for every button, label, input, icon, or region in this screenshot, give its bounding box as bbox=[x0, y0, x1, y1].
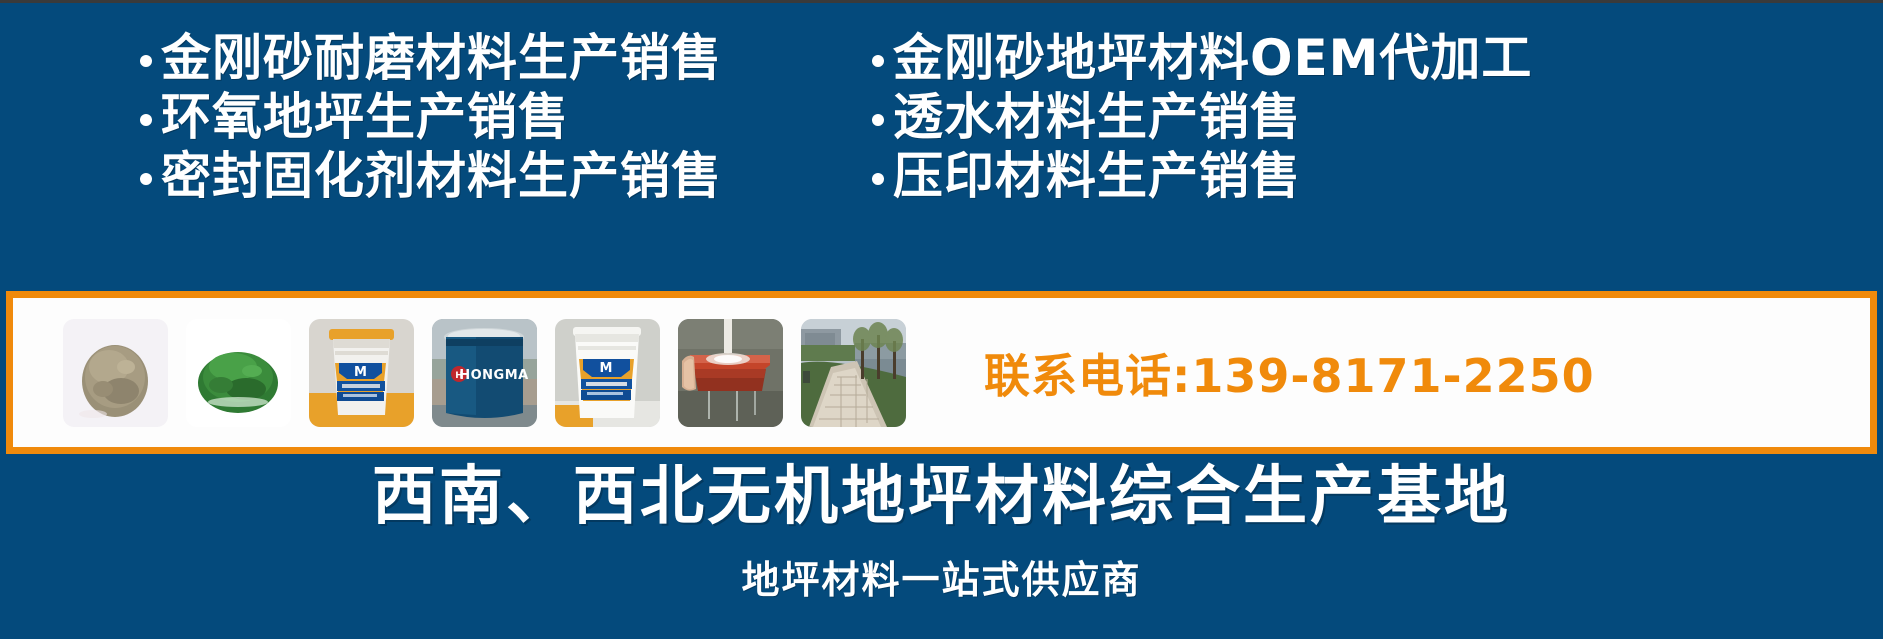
bullet-dot-icon bbox=[872, 173, 884, 185]
feature-item-label: 金刚砂耐磨材料生产销售 bbox=[161, 29, 722, 88]
thumb-green-aggregate-powder bbox=[186, 319, 291, 427]
feature-item-label: 透水材料生产销售 bbox=[893, 88, 1301, 147]
product-strip: M bbox=[6, 291, 1877, 454]
feature-lists: 金刚砂耐磨材料生产销售 环氧地坪生产销售 密封固化剂材料生产销售 金刚砂地坪材料… bbox=[0, 29, 1883, 239]
thumb-permeable-slab bbox=[678, 319, 783, 427]
thumb-stamped-path bbox=[801, 319, 906, 427]
feature-item: 环氧地坪生产销售 bbox=[140, 88, 860, 147]
feature-column-right: 金刚砂地坪材料OEM代加工 透水材料生产销售 压印材料生产销售 bbox=[860, 29, 1883, 206]
contact-phone[interactable]: 联系电话:139-8171-2250 bbox=[984, 340, 1595, 406]
bullet-dot-icon bbox=[140, 114, 152, 126]
bullet-dot-icon bbox=[872, 55, 884, 67]
feature-item: 压印材料生产销售 bbox=[872, 147, 1883, 206]
feature-item: 密封固化剂材料生产销售 bbox=[140, 147, 860, 206]
feature-item-label: 金刚砂地坪材料OEM代加工 bbox=[893, 29, 1532, 88]
bullet-dot-icon bbox=[872, 114, 884, 126]
bullet-dot-icon bbox=[140, 173, 152, 185]
feature-item: 金刚砂耐磨材料生产销售 bbox=[140, 29, 860, 88]
svg-text:M: M bbox=[600, 361, 613, 376]
feature-item-label: 环氧地坪生产销售 bbox=[161, 88, 569, 147]
thumb-hongma-drum: H HONGMA bbox=[432, 319, 537, 427]
thumb-epoxy-pail: M bbox=[555, 319, 660, 427]
bullet-dot-icon bbox=[140, 55, 152, 67]
feature-column-left: 金刚砂耐磨材料生产销售 环氧地坪生产销售 密封固化剂材料生产销售 bbox=[0, 29, 860, 206]
product-thumbnail-row: M bbox=[13, 298, 906, 447]
thumb-sealer-pail: M bbox=[309, 319, 414, 427]
svg-text:M: M bbox=[354, 365, 367, 380]
feature-item: 透水材料生产销售 bbox=[872, 88, 1883, 147]
subline: 地坪材料一站式供应商 bbox=[0, 561, 1883, 599]
feature-item-label: 密封固化剂材料生产销售 bbox=[161, 147, 722, 206]
headline: 西南、西北无机地坪材料综合生产基地 bbox=[0, 465, 1883, 529]
thumb-gray-aggregate-powder bbox=[63, 319, 168, 427]
promo-banner: 金刚砂耐磨材料生产销售 环氧地坪生产销售 密封固化剂材料生产销售 金刚砂地坪材料… bbox=[0, 0, 1883, 639]
svg-text:HONGMA: HONGMA bbox=[459, 368, 528, 383]
feature-item: 金刚砂地坪材料OEM代加工 bbox=[872, 29, 1883, 88]
feature-item-label: 压印材料生产销售 bbox=[893, 147, 1301, 206]
